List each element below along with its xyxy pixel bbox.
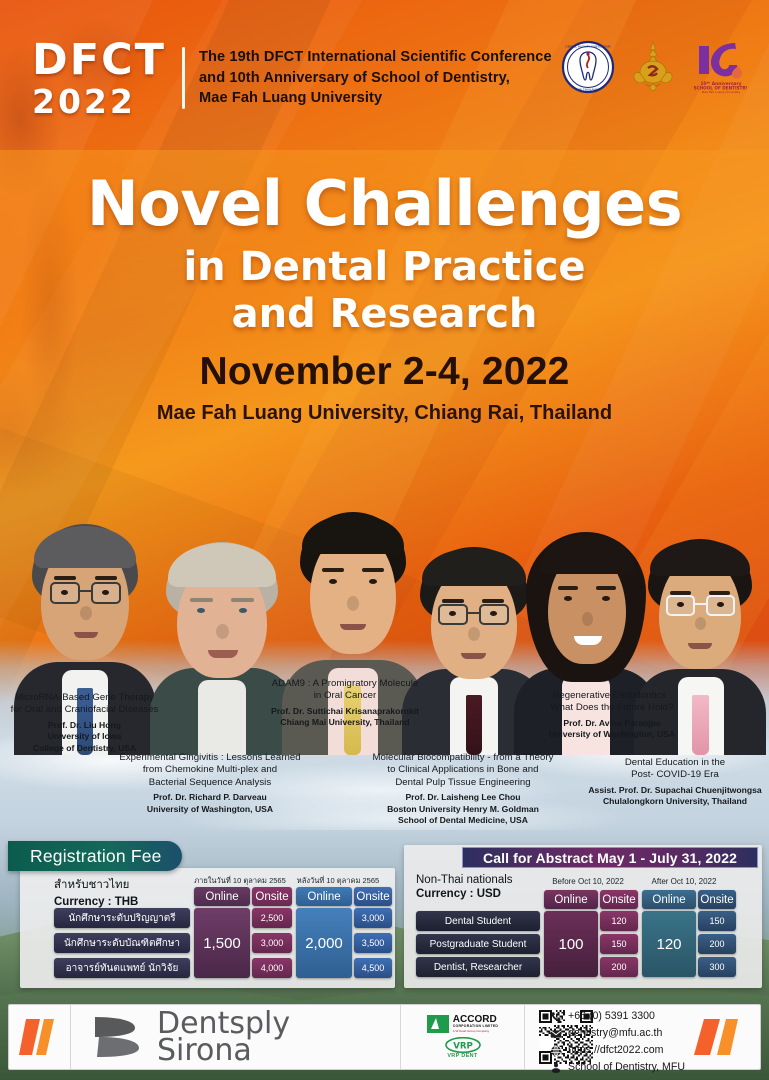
abstract-currency: Currency : USD [416,888,513,900]
header-subtitle: The 19th DFCT International Scientific C… [199,47,552,109]
header-subtitle-line1: The 19th DFCT International Scientific C… [199,47,552,68]
email-icon [549,1027,562,1040]
registration-audience: สำหรับชาวไทย [54,876,138,894]
header-subtitle-line2: and 10th Anniversary of School of Dentis… [199,68,552,89]
globe-icon [549,1044,562,1057]
registration-period-early: ภายในวันที่ 10 ตุลาคม 2565 [194,875,286,887]
mfu-logo-mark [9,1005,71,1069]
speaker-caption-avina-paranjpe: Regenerative Endodontics : What Does the… [512,690,712,741]
speaker-topic-line: Dental Pulp Tissue Engineering [332,777,594,789]
poster-title-block: Novel Challenges in Dental Practice and … [0,172,769,425]
speaker-name: Prof. Dr. Richard P. Darveau [98,792,322,803]
abstract-late-onsite-price: 300 [698,957,736,977]
speaker-affiliation: Chulalongkorn University, Thailand [582,796,768,807]
speaker-name: Prof. Dr. Liu Hong [2,720,167,731]
accord-tagline: A W Noah Group Company [453,1030,498,1033]
call-for-abstract-banner: Call for Abstract May 1 - July 31, 2022 [462,847,758,868]
abstract-period-early: Before Oct 10, 2022 [544,877,632,886]
title-line-1: Novel Challenges [0,172,769,236]
registration-late-onsite-price: 4,500 [354,958,392,978]
registration-col-early-online: Online [194,887,250,906]
speaker-caption-suttichai-krisanaprakornkit: ADAM9 : A Promigratory Molecule in Oral … [250,678,440,729]
abstract-early-online-price: 100 [544,911,598,977]
dentsply-sirona-logo: Dentsply Sirona [71,1005,401,1069]
speaker-name: Prof. Dr. Avina Paranjpe [512,718,712,729]
abstract-early-onsite-price: 150 [600,934,638,954]
svg-text:VRP: VRP [453,1042,473,1052]
speaker-topic-line: Molecular Biocompatibility - from a Theo… [332,752,594,764]
contact-email[interactable]: dentistry@mfu.ac.th [568,1025,662,1042]
speaker-affiliation: School of Dental Medicine, USA [332,815,594,826]
vrp-mark-icon: VRP [445,1037,481,1053]
abstract-audience-block: Non-Thai nationals Currency : USD [416,874,513,900]
abstract-row-label: Dental Student [416,911,540,931]
registration-fee-panel: สำหรับชาวไทย Currency : THB ภายในวันที่ … [20,868,395,988]
vrp-dent-logo: VRP VRP DENT [445,1037,481,1059]
abstract-col-early-onsite: Onsite [600,890,638,909]
speaker-topic-line: MicroRNA-Based Gene Therapy [2,692,167,704]
registration-currency: Currency : THB [54,896,138,908]
contact-phone: +66 (0) 5391 3300 [568,1008,655,1025]
registration-late-onsite-price: 3,500 [354,933,392,953]
speaker-name: Assist. Prof. Dr. Supachai Chuenjitwongs… [582,785,768,796]
speaker-name: Prof. Dr. Laisheng Lee Chou [332,792,594,803]
speaker-caption-richard-darveau: Experimental Gingivitis : Lessons Learne… [98,752,322,815]
registration-row-label: นักศึกษาระดับปริญญาตรี [54,908,190,928]
contact-row-phone: +66 (0) 5391 3300 [549,1008,685,1025]
title-line-2: in Dental Practice [0,244,769,291]
registration-period-late: หลังวันที่ 10 ตุลาคม 2565 [292,875,384,887]
brand-year: 2022 [32,85,166,118]
accord-mark-icon [427,1015,449,1033]
contact-location: School of Dentistry, MFU [568,1059,685,1076]
speaker-caption-supachai-chuenjitwongsa: Dental Education in the Post- COVID-19 E… [582,757,768,808]
conference-venue: Mae Fah Luang University, Chiang Rai, Th… [0,402,769,425]
header-logos: DENTAL FACULTY CONSORTIUM OF THAILAND 10… [561,40,747,94]
abstract-row-label: Postgraduate Student [416,934,540,954]
svg-text:DENTAL FACULTY CONSORTIUM: DENTAL FACULTY CONSORTIUM [566,45,611,49]
abstract-row-label: Dentist, Researcher [416,957,540,977]
contact-row-website: https://dfct2022.com [549,1042,685,1059]
registration-col-late-onsite: Onsite [354,887,392,906]
speaker-caption-laisheng-lee-chou: Molecular Biocompatibility - from a Theo… [332,752,594,826]
registration-col-late-online: Online [296,887,352,906]
abstract-late-onsite-price: 200 [698,934,736,954]
abstract-early-onsite-price: 200 [600,957,638,977]
10th-anniversary-school-of-dentistry-logo: 10ᵗʰ Anniversary SCHOOL OF DENTISTRY Mae… [691,40,747,94]
conference-date: November 2-4, 2022 [0,350,769,394]
title-line-3: and Research [0,291,769,338]
speaker-affiliation: Chiang Mai University, Thailand [250,717,440,728]
registration-row-label: อาจารย์ทันตแพทย์ นักวิจัย [54,958,190,978]
header-divider [182,47,185,109]
contact-website[interactable]: https://dfct2022.com [568,1042,663,1059]
abstract-audience: Non-Thai nationals [416,874,513,886]
speaker-affiliation: University of Washington, USA [98,804,322,815]
speaker-topic-line: Regenerative Endodontics : [512,690,712,702]
speaker-affiliation: Boston University Henry M. Goldman [332,804,594,815]
speaker-affiliation: University of Iowa [2,731,167,742]
abstract-col-late-online: Online [642,890,696,909]
registration-early-onsite-price: 4,000 [252,958,292,978]
contact-row-email: dentistry@mfu.ac.th [549,1025,685,1042]
speaker-affiliation: University of Washington, USA [512,729,712,740]
registration-early-onsite-price: 3,000 [252,933,292,953]
vrp-dent-wordmark: VRP DENT [447,1053,477,1059]
registration-early-online-price: 1,500 [194,908,250,978]
brand-dfct: DFCT [32,39,166,82]
speaker-topic-line: Experimental Gingivitis : Lessons Learne… [98,752,322,764]
speaker-topic-line: What Does the Future Hold? [512,702,712,714]
contact-info-list: +66 (0) 5391 3300 dentistry@mfu.ac.th ht… [549,1008,685,1077]
speaker-topic-line: to Clinical Applications in Bone and [332,764,594,776]
royal-thai-emblem-logo [631,40,675,94]
conference-poster: DFCT 2022 The 19th DFCT International Sc… [0,0,769,1080]
registration-row-label: นักศึกษาระดับบัณฑิตศึกษา [54,933,190,953]
registration-fee-badge: Registration Fee [8,841,182,871]
speaker-topic-line: Dental Education in the [582,757,768,769]
dental-faculty-consortium-of-thailand-logo: DENTAL FACULTY CONSORTIUM OF THAILAND [561,40,615,94]
speaker-caption-liu-hong: MicroRNA-Based Gene Therapy for Oral and… [2,692,167,754]
accord-vrp-logos: ACCORD CORPORATION LIMITED A W Noah Grou… [401,1005,525,1069]
registration-audience-block: สำหรับชาวไทย Currency : THB [54,876,138,908]
location-pin-icon [549,1062,562,1075]
contact-row-location: School of Dentistry, MFU [549,1059,685,1076]
phone-icon [549,1010,562,1023]
speaker-name: Prof. Dr. Suttichai Krisanaprakornkit [250,706,440,717]
abstract-late-online-price: 120 [642,911,696,977]
dentsply-sirona-mark-icon [89,1013,147,1061]
speaker-topic-line: Bacterial Sequence Analysis [98,777,322,789]
speaker-topic-line: ADAM9 : A Promigratory Molecule [250,678,440,690]
call-for-abstract-panel: Call for Abstract May 1 - July 31, 2022 … [404,845,762,988]
svg-text:OF THAILAND: OF THAILAND [578,88,598,92]
svg-text:Mae Fah Luang University: Mae Fah Luang University [702,90,741,94]
speaker-topic-line: for Oral and Craniofacial Diseases [2,704,167,716]
registration-late-online-price: 2,000 [296,908,352,978]
abstract-early-onsite-price: 120 [600,911,638,931]
mfu-orange-slash-icon [690,1013,746,1061]
speaker-topic-line: from Chemokine Multi-plex and [98,764,322,776]
abstract-col-early-online: Online [544,890,598,909]
abstract-period-late: After Oct 10, 2022 [640,877,728,886]
speaker-topic-line: Post- COVID-19 Era [582,769,768,781]
registration-late-onsite-price: 3,000 [354,908,392,928]
header-subtitle-line3: Mae Fah Luang University [199,88,552,109]
mfu-orange-slash-icon [16,1013,64,1061]
abstract-late-onsite-price: 150 [698,911,736,931]
brand-block: DFCT 2022 [32,39,166,118]
speaker-topic-line: in Oral Cancer [250,690,440,702]
registration-early-onsite-price: 2,500 [252,908,292,928]
abstract-col-late-onsite: Onsite [698,890,736,909]
accord-corporation-limited-logo: ACCORD CORPORATION LIMITED A W Noah Grou… [427,1015,498,1033]
registration-col-early-onsite: Onsite [252,887,292,906]
